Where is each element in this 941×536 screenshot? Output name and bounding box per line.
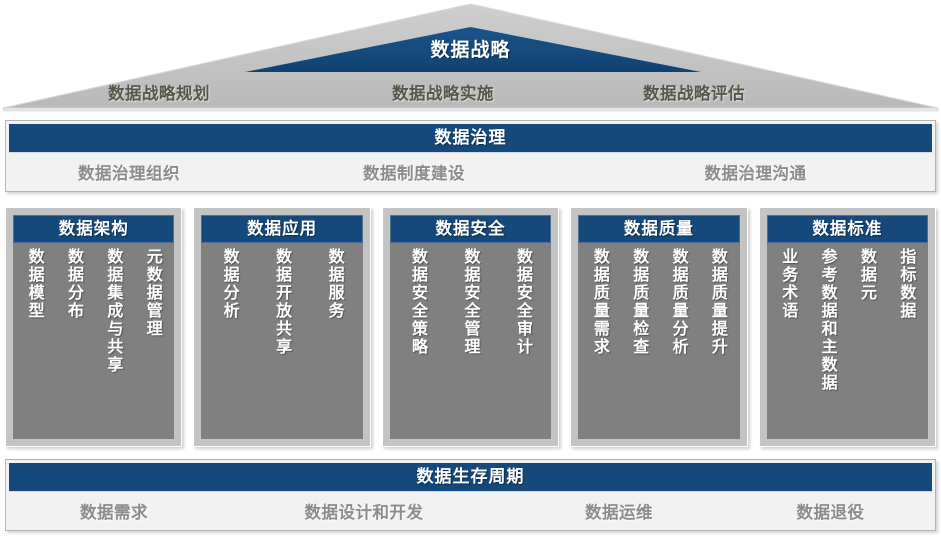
pillar-body: 数据架构 数据模型 数据分布 数据集成与共享 元数据管理	[13, 215, 174, 439]
pillar-item: 数据分析	[222, 248, 238, 320]
pillar-items: 数据安全策略 数据安全管理 数据安全审计	[390, 243, 551, 439]
pillar-item: 数据集成与共享	[105, 248, 121, 374]
pillar-body: 数据标准 业务术语 参考数据和主数据 数据元 指标数据	[767, 215, 928, 439]
pillar-row: 数据架构 数据模型 数据分布 数据集成与共享 元数据管理 数据应用 数据分析 数…	[5, 207, 936, 447]
governance-title: 数据治理	[9, 124, 932, 153]
pillar-item: 数据分布	[66, 248, 82, 320]
pillar-body: 数据安全 数据安全策略 数据安全管理 数据安全审计	[390, 215, 551, 439]
lifecycle-sub-operations: 数据运维	[509, 499, 729, 523]
pillar-items: 数据分析 数据开放共享 数据服务	[201, 243, 362, 439]
pillar-items: 业务术语 参考数据和主数据 数据元 指标数据	[767, 243, 928, 439]
lifecycle-sub-retirement: 数据退役	[729, 499, 932, 523]
pillar-item: 数据服务	[327, 248, 343, 320]
pillar-item: 业务术语	[780, 248, 796, 320]
pillar-data-architecture: 数据架构 数据模型 数据分布 数据集成与共享 元数据管理	[5, 207, 182, 447]
roof-sub-implementation: 数据战略实施	[318, 80, 568, 108]
dcmm-capability-framework-diagram: 数据战略 数据战略规划 数据战略实施 数据战略评估 数据治理 数据治理组织 数据…	[0, 0, 941, 536]
pillar-title-security: 数据安全	[390, 215, 551, 243]
band-data-governance: 数据治理 数据治理组织 数据制度建设 数据治理沟通	[5, 120, 936, 192]
pillar-item: 指标数据	[898, 248, 914, 320]
pillar-title-architecture: 数据架构	[13, 215, 174, 243]
governance-sub-policy: 数据制度建设	[249, 160, 579, 184]
pillar-item: 元数据管理	[145, 248, 161, 338]
lifecycle-title: 数据生存周期	[9, 463, 932, 492]
pillar-title-quality: 数据质量	[578, 215, 739, 243]
pillar-data-standard: 数据标准 业务术语 参考数据和主数据 数据元 指标数据	[759, 207, 936, 447]
roof-title: 数据战略	[0, 35, 941, 62]
pillar-body: 数据质量 数据质量需求 数据质量检查 数据质量分析 数据质量提升	[578, 215, 739, 439]
governance-sub-organization: 数据治理组织	[9, 160, 249, 184]
pillar-item: 数据安全审计	[515, 248, 531, 356]
pillar-item: 数据质量分析	[671, 248, 687, 356]
band-data-lifecycle: 数据生存周期 数据需求 数据设计和开发 数据运维 数据退役	[5, 459, 936, 531]
pillar-item: 数据模型	[27, 248, 43, 320]
pillar-item: 参考数据和主数据	[820, 248, 836, 392]
roof-baseline	[3, 108, 938, 111]
pillar-title-standard: 数据标准	[767, 215, 928, 243]
pillar-data-security: 数据安全 数据安全策略 数据安全管理 数据安全审计	[382, 207, 559, 447]
roof-sub-evaluation: 数据战略评估	[568, 80, 820, 108]
pillar-body: 数据应用 数据分析 数据开放共享 数据服务	[201, 215, 362, 439]
lifecycle-sub-design-development: 数据设计和开发	[219, 499, 509, 523]
pillar-data-quality: 数据质量 数据质量需求 数据质量检查 数据质量分析 数据质量提升	[570, 207, 747, 447]
lifecycle-sub-row: 数据需求 数据设计和开发 数据运维 数据退役	[6, 492, 935, 529]
pillar-item: 数据元	[859, 248, 875, 302]
governance-sub-communication: 数据治理沟通	[579, 160, 932, 184]
pillar-item: 数据安全管理	[463, 248, 479, 356]
pillar-item: 数据安全策略	[410, 248, 426, 356]
pillar-items: 数据质量需求 数据质量检查 数据质量分析 数据质量提升	[578, 243, 739, 439]
pillar-item: 数据质量检查	[631, 248, 647, 356]
roof-data-strategy: 数据战略 数据战略规划 数据战略实施 数据战略评估	[0, 0, 941, 112]
roof-sub-planning: 数据战略规划	[0, 80, 318, 108]
pillar-item: 数据质量提升	[710, 248, 726, 356]
pillar-items: 数据模型 数据分布 数据集成与共享 元数据管理	[13, 243, 174, 439]
pillar-item: 数据开放共享	[274, 248, 290, 356]
pillar-title-application: 数据应用	[201, 215, 362, 243]
lifecycle-sub-requirements: 数据需求	[9, 499, 219, 523]
roof-sub-row: 数据战略规划 数据战略实施 数据战略评估	[0, 80, 941, 108]
pillar-item: 数据质量需求	[592, 248, 608, 356]
pillar-data-application: 数据应用 数据分析 数据开放共享 数据服务	[193, 207, 370, 447]
governance-sub-row: 数据治理组织 数据制度建设 数据治理沟通	[6, 153, 935, 190]
roof-sub-spacer	[820, 80, 941, 108]
